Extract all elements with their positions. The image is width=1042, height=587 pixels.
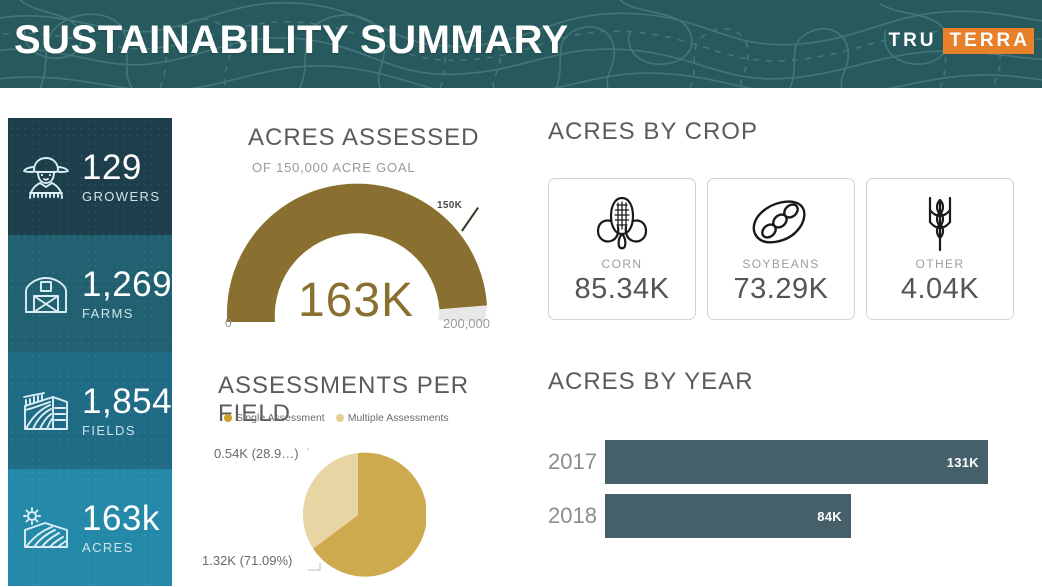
kpi-label: GROWERS bbox=[82, 189, 160, 204]
crop-card-corn[interactable]: CORN 85.34K bbox=[548, 178, 696, 320]
kpi-value: 129 bbox=[82, 150, 160, 185]
corn-icon bbox=[593, 191, 651, 255]
page-title: SUSTAINABILITY SUMMARY bbox=[14, 18, 569, 63]
truterra-logo: TRU TERRA bbox=[886, 28, 1034, 54]
legend-label: Multiple Assessments bbox=[348, 412, 449, 424]
crop-value: 85.34K bbox=[575, 273, 670, 306]
year-bar-value: 84K bbox=[817, 509, 842, 524]
fields-icon bbox=[18, 383, 74, 439]
crop-name: OTHER bbox=[916, 257, 965, 271]
crop-card-soybeans[interactable]: SOYBEANS 73.29K bbox=[707, 178, 855, 320]
kpi-label: FARMS bbox=[82, 306, 172, 321]
acres-by-crop-panel: ACRES BY CROP CORN 85.3 bbox=[548, 112, 1014, 327]
kpi-text-fields: 1,854 FIELDS bbox=[82, 384, 172, 438]
year-bar[interactable]: 131K bbox=[605, 440, 988, 484]
kpi-label: FIELDS bbox=[82, 423, 172, 438]
dashboard-page: SUSTAINABILITY SUMMARY TRU TERRA bbox=[0, 0, 1042, 587]
kpi-tile-farms[interactable]: 1,269 FARMS bbox=[8, 235, 172, 352]
gauge-subtitle: OF 150,000 ACRE GOAL bbox=[252, 160, 415, 175]
wheat-icon bbox=[917, 191, 963, 255]
barn-icon bbox=[18, 266, 74, 322]
year-category-label: 2018 bbox=[548, 503, 605, 529]
soybean-icon bbox=[749, 191, 813, 255]
pie-chart bbox=[290, 448, 426, 582]
gauge-target-label: 150K bbox=[437, 200, 462, 211]
crop-title: ACRES BY CROP bbox=[548, 118, 758, 146]
pie-legend: Single Assessment Multiple Assessments bbox=[224, 412, 449, 424]
crop-value: 73.29K bbox=[734, 273, 829, 306]
legend-label: Single Assessment bbox=[236, 412, 325, 424]
year-bar-row-2018[interactable]: 2018 84K bbox=[548, 494, 1018, 538]
acres-icon bbox=[18, 500, 74, 556]
year-bar[interactable]: 84K bbox=[605, 494, 851, 538]
acres-by-year-panel: ACRES BY YEAR 2017 131K 2018 84K bbox=[548, 362, 1018, 562]
crop-name: SOYBEANS bbox=[742, 257, 819, 271]
kpi-text-farms: 1,269 FARMS bbox=[82, 267, 172, 321]
legend-swatch-icon bbox=[336, 414, 344, 422]
farmer-icon bbox=[18, 149, 74, 205]
kpi-tile-growers[interactable]: 129 GROWERS bbox=[8, 118, 172, 235]
crop-card-other[interactable]: OTHER 4.04K bbox=[866, 178, 1014, 320]
kpi-tile-fields[interactable]: 1,854 FIELDS bbox=[8, 352, 172, 469]
kpi-value: 163k bbox=[82, 501, 160, 536]
gauge-target-marker bbox=[462, 208, 478, 231]
legend-swatch-icon bbox=[224, 414, 232, 422]
acres-assessed-gauge-panel: ACRES ASSESSED OF 150,000 ACRE GOAL 150K… bbox=[196, 118, 516, 343]
kpi-label: ACRES bbox=[82, 540, 160, 555]
logo-text-primary: TRU bbox=[886, 28, 942, 54]
kpi-sidebar: 129 GROWERS 1,269 FARMS bbox=[8, 118, 172, 587]
pie-data-label-multiple: 0.54K (28.9…) bbox=[214, 446, 299, 461]
year-category-label: 2017 bbox=[548, 449, 605, 475]
kpi-text-acres: 163k ACRES bbox=[82, 501, 160, 555]
legend-item-single[interactable]: Single Assessment bbox=[224, 412, 325, 424]
kpi-value: 1,269 bbox=[82, 267, 172, 302]
year-bar-row-2017[interactable]: 2017 131K bbox=[548, 440, 1018, 484]
kpi-tile-acres[interactable]: 163k ACRES bbox=[8, 469, 172, 586]
crop-card-list: CORN 85.34K SOYBEANS 73.29K bbox=[548, 178, 1014, 320]
year-bar-list: 2017 131K 2018 84K bbox=[548, 440, 1018, 548]
crop-name: CORN bbox=[602, 257, 643, 271]
kpi-text-growers: 129 GROWERS bbox=[82, 150, 160, 204]
page-header: SUSTAINABILITY SUMMARY TRU TERRA bbox=[0, 0, 1042, 88]
year-bar-value: 131K bbox=[947, 455, 979, 470]
crop-value: 4.04K bbox=[901, 273, 979, 306]
gauge-max-label: 200,000 bbox=[443, 316, 490, 331]
pie-leader-line-single bbox=[308, 563, 320, 570]
logo-text-accent: TERRA bbox=[943, 28, 1034, 54]
pie-data-label-single: 1.32K (71.09%) bbox=[202, 553, 292, 568]
gauge-title: ACRES ASSESSED bbox=[248, 124, 479, 152]
year-title: ACRES BY YEAR bbox=[548, 368, 754, 396]
assessments-per-field-panel: ASSESSMENTS PER FIELD Single Assessment … bbox=[196, 368, 516, 587]
gauge-min-label: 0 bbox=[225, 316, 232, 330]
legend-item-multiple[interactable]: Multiple Assessments bbox=[336, 412, 449, 424]
kpi-value: 1,854 bbox=[82, 384, 172, 419]
